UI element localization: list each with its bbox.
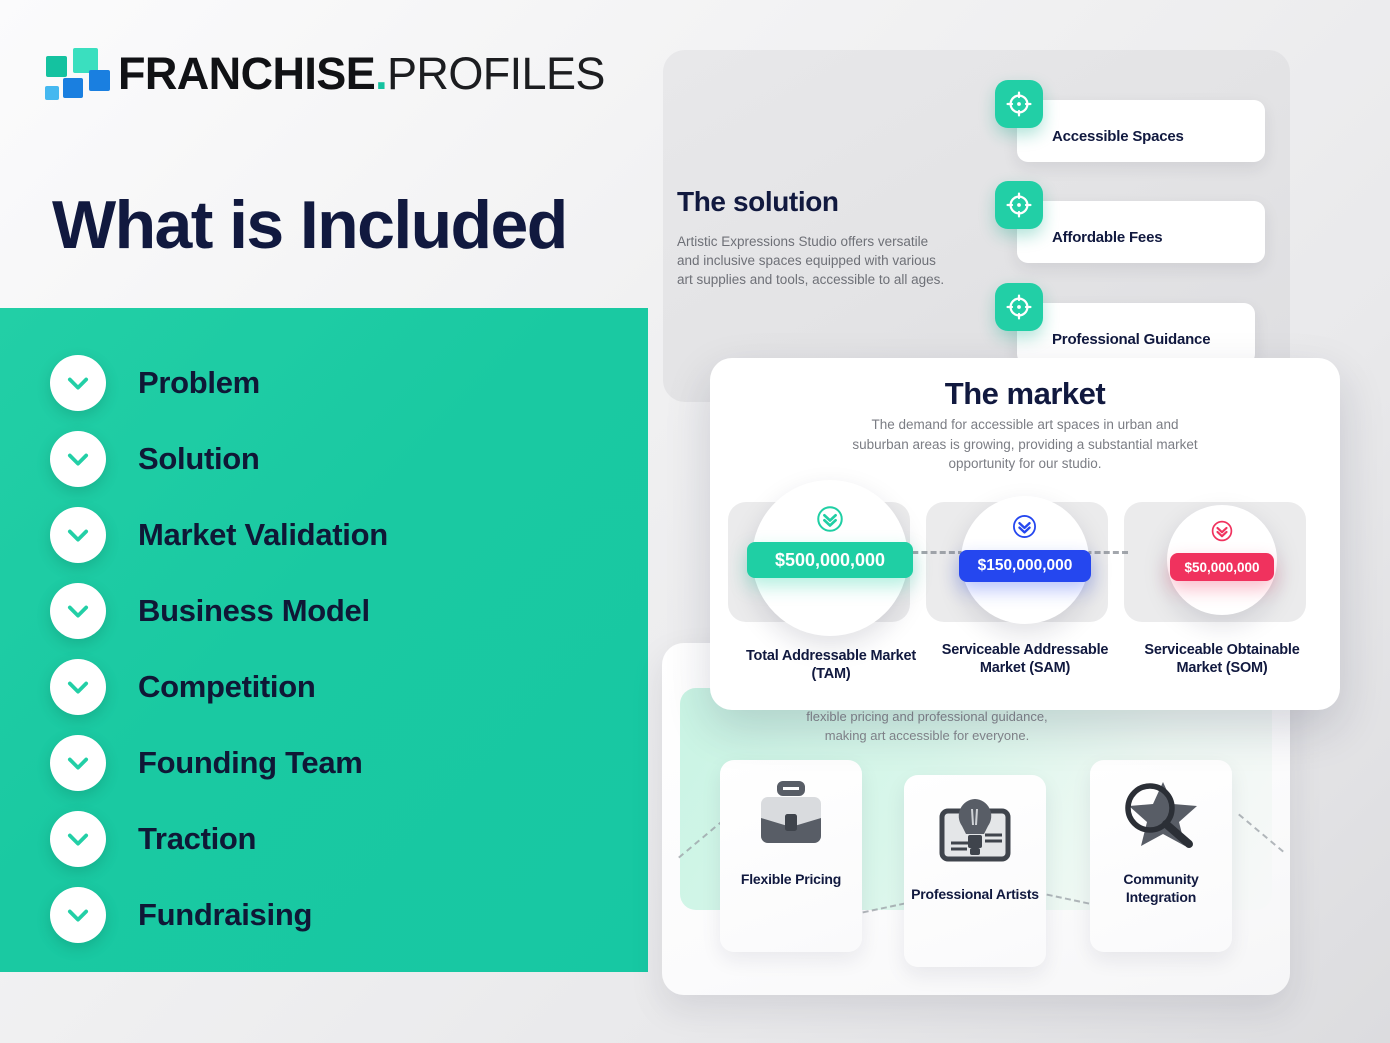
solution-feature-professional-guidance[interactable]: Professional Guidance: [995, 283, 1265, 365]
chevron-down-icon: [50, 583, 106, 639]
bottom-description: flexible pricing and professional guidan…: [802, 708, 1052, 746]
market-description: The demand for accessible art spaces in …: [845, 415, 1205, 474]
solution-feature-affordable-fees[interactable]: Affordable Fees: [995, 181, 1265, 263]
toc-item-label: Fundraising: [138, 897, 312, 933]
bottom-card-professional-artists[interactable]: Professional Artists: [904, 775, 1046, 967]
brand-name-light: PROFILES: [387, 48, 605, 99]
slide-canvas: FRANCHISE.PROFILES What is Included Prob…: [0, 0, 1390, 1043]
double-chevron-down-icon: [1210, 519, 1234, 548]
toc-item-label: Market Validation: [138, 517, 388, 553]
toc-list: Problem Solution Market Validation Busin…: [50, 345, 610, 953]
target-crosshair-icon: [995, 80, 1043, 128]
bottom-card-community-integration[interactable]: Community Integration: [1090, 760, 1232, 952]
toc-item-market-validation[interactable]: Market Validation: [50, 497, 610, 573]
toc-item-label: Founding Team: [138, 745, 363, 781]
toc-item-solution[interactable]: Solution: [50, 421, 610, 497]
market-value-tam: $500,000,000: [747, 542, 913, 578]
magnifier-star-icon: [1115, 778, 1207, 863]
toc-item-competition[interactable]: Competition: [50, 649, 610, 725]
market-title: The market: [710, 376, 1340, 412]
feature-label: Affordable Fees: [1052, 229, 1282, 246]
toc-item-label: Competition: [138, 669, 316, 705]
market-card: The market The demand for accessible art…: [710, 358, 1340, 710]
solution-title: The solution: [677, 186, 839, 218]
toc-item-traction[interactable]: Traction: [50, 801, 610, 877]
toc-item-business-model[interactable]: Business Model: [50, 573, 610, 649]
chevron-down-icon: [50, 811, 106, 867]
briefcase-icon: [748, 778, 834, 863]
brand-wordmark: FRANCHISE.PROFILES: [118, 48, 605, 100]
chevron-down-icon: [50, 659, 106, 715]
target-crosshair-icon: [995, 181, 1043, 229]
market-caption-sam: Serviceable Addressable Market (SAM): [923, 641, 1127, 677]
toc-item-fundraising[interactable]: Fundraising: [50, 877, 610, 953]
target-crosshair-icon: [995, 283, 1043, 331]
toc-item-founding-team[interactable]: Founding Team: [50, 725, 610, 801]
market-caption-som: Serviceable Obtainable Market (SOM): [1120, 641, 1324, 677]
chevron-down-icon: [50, 355, 106, 411]
toc-item-label: Problem: [138, 365, 260, 401]
market-value-som: $50,000,000: [1170, 553, 1274, 581]
brand-dot: .: [375, 48, 387, 99]
lightbulb-document-icon: [931, 793, 1019, 878]
market-segment-tam[interactable]: $500,000,000 Total Addressable Market (T…: [752, 480, 912, 700]
chevron-down-icon: [50, 735, 106, 791]
solution-description: Artistic Expressions Studio offers versa…: [677, 232, 947, 289]
logo-mark-icon: [44, 48, 106, 100]
market-value-sam: $150,000,000: [959, 550, 1091, 582]
brand-name-bold: FRANCHISE: [118, 48, 375, 99]
toc-item-label: Traction: [138, 821, 256, 857]
solution-feature-accessible-spaces[interactable]: Accessible Spaces: [995, 80, 1265, 162]
toc-item-label: Business Model: [138, 593, 370, 629]
feature-label: Accessible Spaces: [1052, 128, 1282, 145]
chevron-down-icon: [50, 431, 106, 487]
toc-item-problem[interactable]: Problem: [50, 345, 610, 421]
market-segment-sam[interactable]: $150,000,000 Serviceable Addressable Mar…: [961, 496, 1101, 706]
double-chevron-down-icon: [1011, 513, 1038, 545]
market-segment-som[interactable]: $50,000,000 Serviceable Obtainable Marke…: [1167, 505, 1297, 705]
double-chevron-down-icon: [815, 504, 845, 539]
market-caption-tam: Total Addressable Market (TAM): [729, 647, 933, 683]
bottom-card-label: Community Integration: [1090, 871, 1232, 906]
bottom-card-label: Professional Artists: [911, 886, 1039, 904]
page-title: What is Included: [52, 186, 567, 264]
chevron-down-icon: [50, 887, 106, 943]
bottom-card-label: Flexible Pricing: [741, 871, 841, 889]
bottom-card-flexible-pricing[interactable]: Flexible Pricing: [720, 760, 862, 952]
toc-item-label: Solution: [138, 441, 260, 477]
chevron-down-icon: [50, 507, 106, 563]
feature-label: Professional Guidance: [1052, 331, 1282, 348]
brand-logo[interactable]: FRANCHISE.PROFILES: [44, 48, 605, 100]
